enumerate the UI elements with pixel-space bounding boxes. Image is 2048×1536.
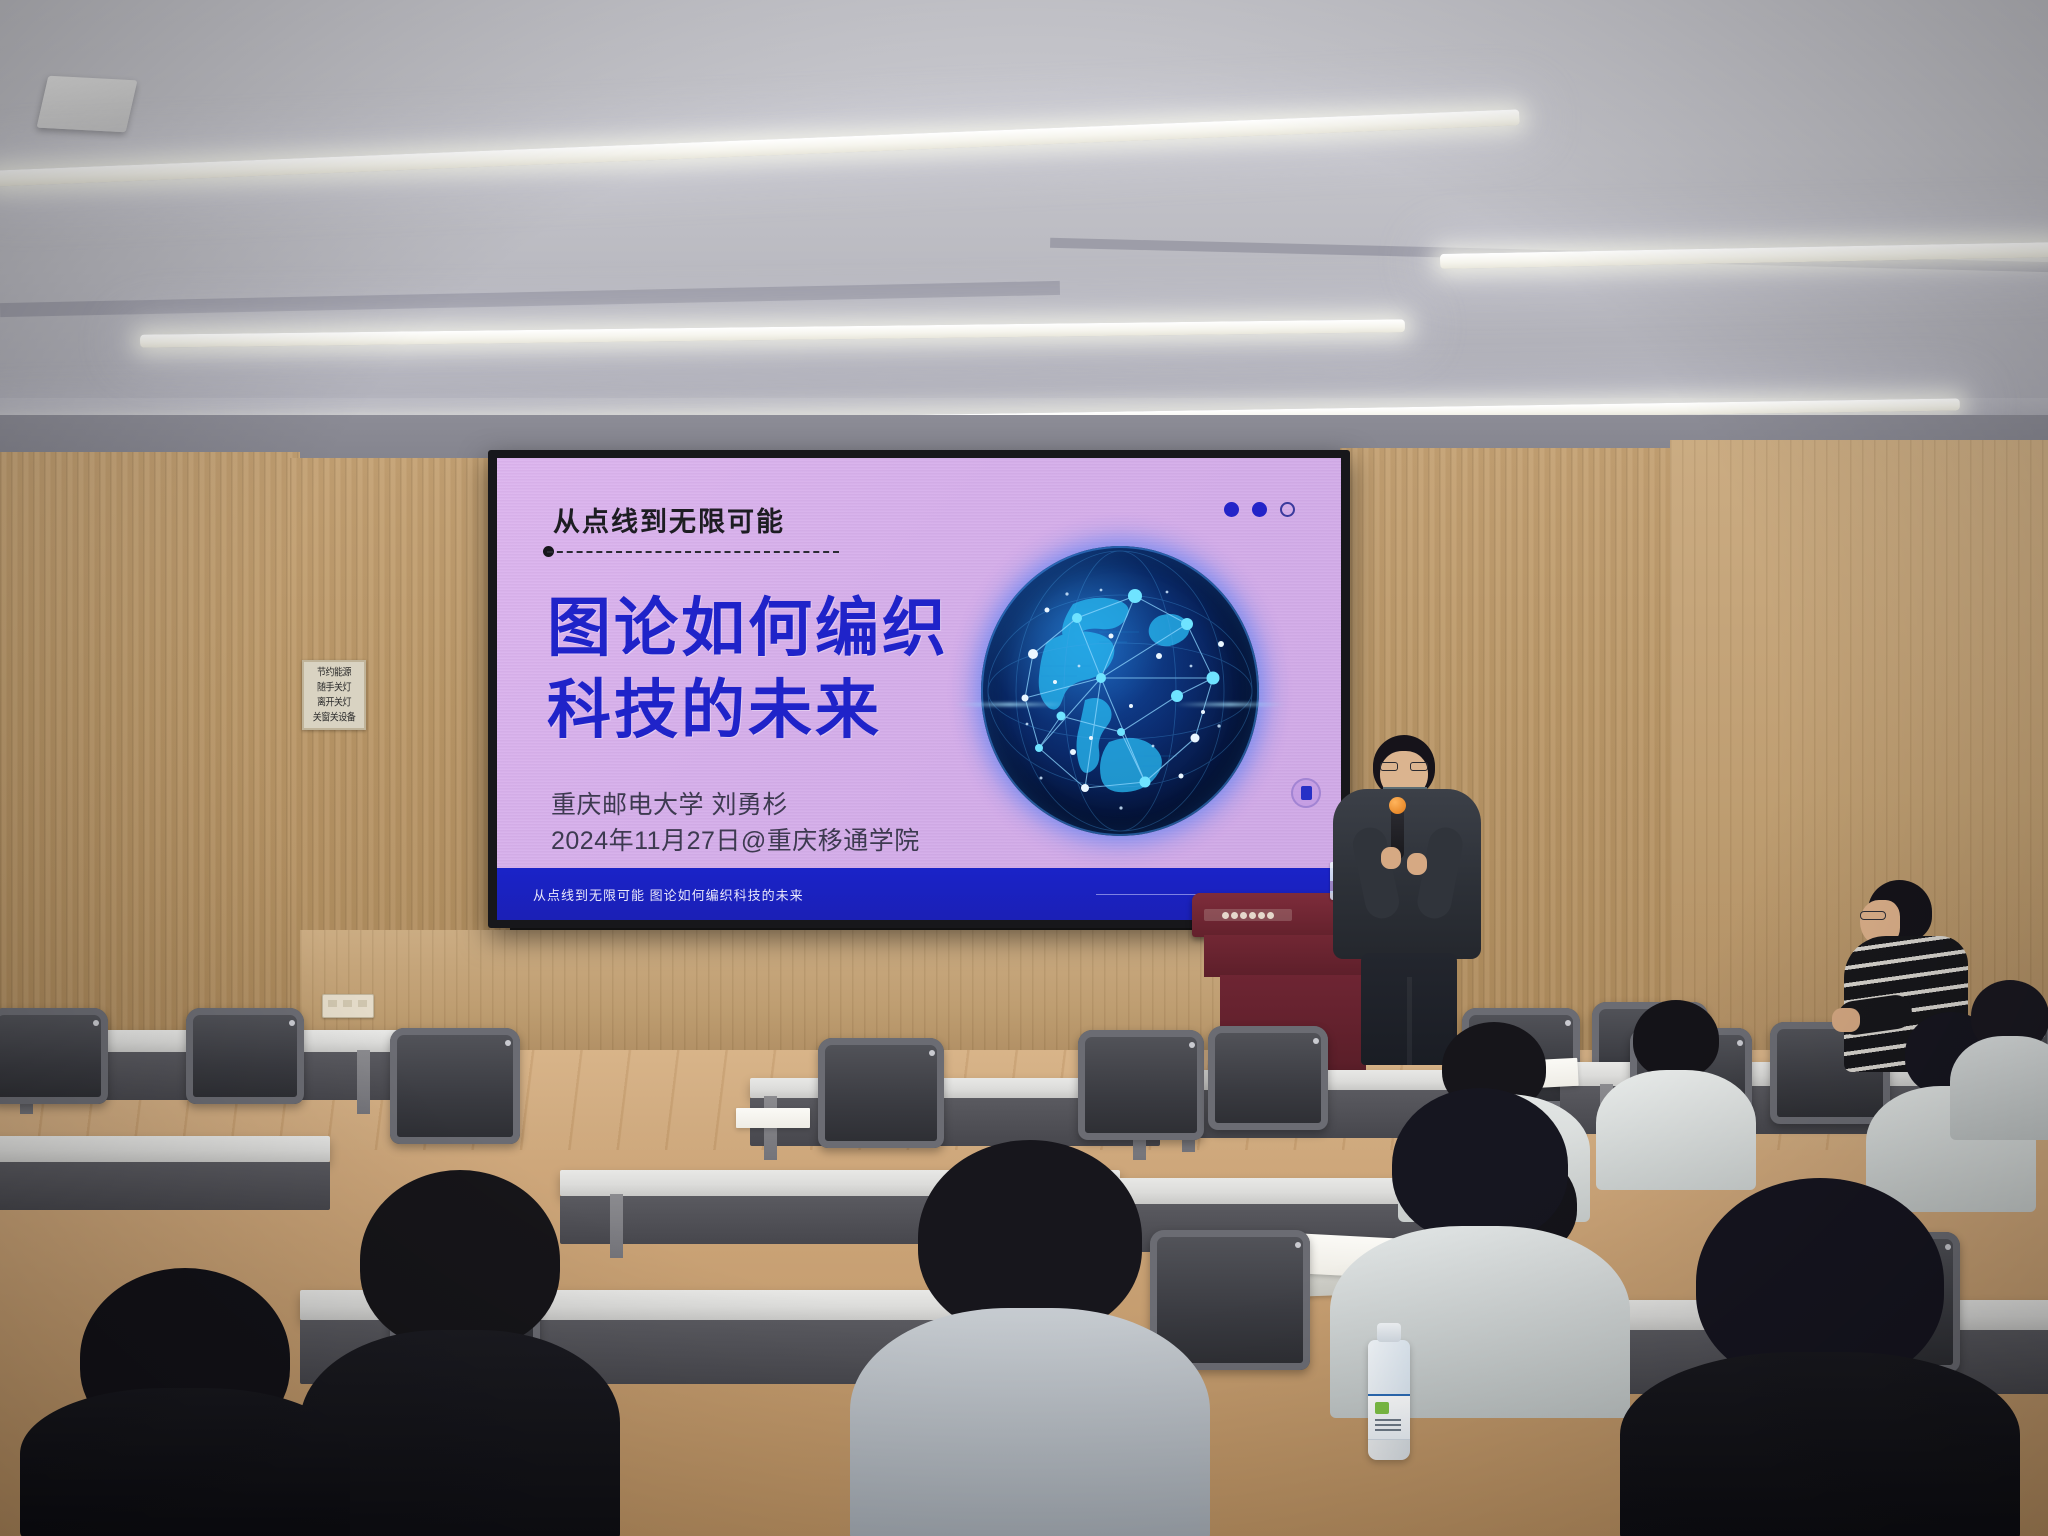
- globe-rim: [981, 546, 1259, 836]
- speaker-jacket: [1333, 789, 1481, 959]
- slide-title-line-1: 图论如何编织: [547, 588, 949, 670]
- byline-date-venue: 2024年11月27日@重庆移通学院: [551, 824, 920, 860]
- slide-title-line-2: 科技的未来: [547, 670, 949, 752]
- chair-stage-1[interactable]: [818, 1038, 944, 1148]
- globe-flare-right: [1175, 703, 1285, 706]
- ceiling: [0, 0, 2048, 430]
- paper-on-desk-stage: [736, 1108, 810, 1128]
- wall-switch-plate[interactable]: [322, 994, 374, 1018]
- attendee-far-right: [1950, 980, 2048, 1140]
- bottle-label: [1368, 1394, 1410, 1440]
- progress-dot-2: [1252, 502, 1267, 517]
- attendee-far-left-dark: [20, 1268, 350, 1536]
- attendee-head: [918, 1140, 1142, 1336]
- projection-screen: 从点线到无限可能 图论如何编织 科技的未来 重庆邮电大学 刘勇杉 2024年11…: [488, 450, 1350, 928]
- attendee-torso: [850, 1308, 1210, 1536]
- network-globe-graphic: [981, 546, 1259, 836]
- chair-stage-2[interactable]: [1078, 1030, 1204, 1140]
- slide-corner-badge: [1291, 778, 1321, 808]
- byline-affiliation: 重庆邮电大学 刘勇杉: [551, 788, 920, 824]
- attendee-torso: [1620, 1352, 2020, 1536]
- sign-line-3: 离开关灯: [317, 697, 351, 707]
- sign-line-1: 节约能源: [317, 667, 351, 677]
- attendee-torso: [1950, 1036, 2048, 1140]
- speaker-glasses-icon: [1380, 762, 1428, 771]
- attendee-torso: [20, 1388, 350, 1536]
- striped-attendee-hand: [1832, 1008, 1860, 1032]
- sign-line-2: 随手关灯: [317, 682, 351, 692]
- chair-left-3[interactable]: [390, 1028, 520, 1144]
- sign-line-4: 关窗关设备: [313, 712, 356, 722]
- globe-flare-left: [955, 703, 1065, 706]
- desk-left-mid: [0, 1136, 330, 1162]
- striped-attendee-glasses-icon: [1860, 911, 1886, 920]
- slide-kicker: 从点线到无限可能: [553, 500, 785, 539]
- chair-left-2[interactable]: [186, 1008, 304, 1104]
- slide-progress-dots: [1224, 502, 1295, 517]
- slide-title: 图论如何编织 科技的未来: [547, 588, 949, 752]
- attendee-center-dark: [850, 1140, 1210, 1536]
- globe-sphere: [981, 546, 1259, 836]
- lecture-hall-photo: 节约能源 随手关灯 离开关灯 关窗关设备 从点线到无限可能 图论如何编织 科技的…: [0, 0, 2048, 1536]
- speaker-hand-right: [1407, 853, 1427, 875]
- energy-saving-sign: 节约能源 随手关灯 离开关灯 关窗关设备: [302, 660, 366, 730]
- microphone-head-icon: [1389, 797, 1406, 814]
- bottle-cap: [1377, 1323, 1401, 1342]
- slide-body: 从点线到无限可能 图论如何编织 科技的未来 重庆邮电大学 刘勇杉 2024年11…: [497, 458, 1341, 868]
- water-bottle-on-desk: [1368, 1340, 1410, 1460]
- wall-panel-left: [0, 452, 300, 1052]
- chair-left-1[interactable]: [0, 1008, 108, 1104]
- speaker-hand-left: [1381, 847, 1401, 869]
- slide-footer-text: 从点线到无限可能 图论如何编织科技的未来: [533, 885, 804, 904]
- attendee-head: [1633, 1000, 1719, 1078]
- chair-stage-3[interactable]: [1208, 1026, 1328, 1130]
- attendee-head: [360, 1170, 560, 1350]
- progress-dot-1: [1224, 502, 1239, 517]
- slide: 从点线到无限可能 图论如何编织 科技的未来 重庆邮电大学 刘勇杉 2024年11…: [497, 458, 1341, 920]
- ceiling-projector-mount: [37, 76, 138, 133]
- kicker-dashed-rule: [547, 551, 839, 553]
- progress-dot-3: [1280, 502, 1295, 517]
- attendee-right-dark: [1620, 1178, 2020, 1536]
- podium-logo-plate: [1204, 909, 1292, 921]
- slide-byline: 重庆邮电大学 刘勇杉 2024年11月27日@重庆移通学院: [551, 788, 920, 859]
- attendee-head: [1392, 1088, 1568, 1242]
